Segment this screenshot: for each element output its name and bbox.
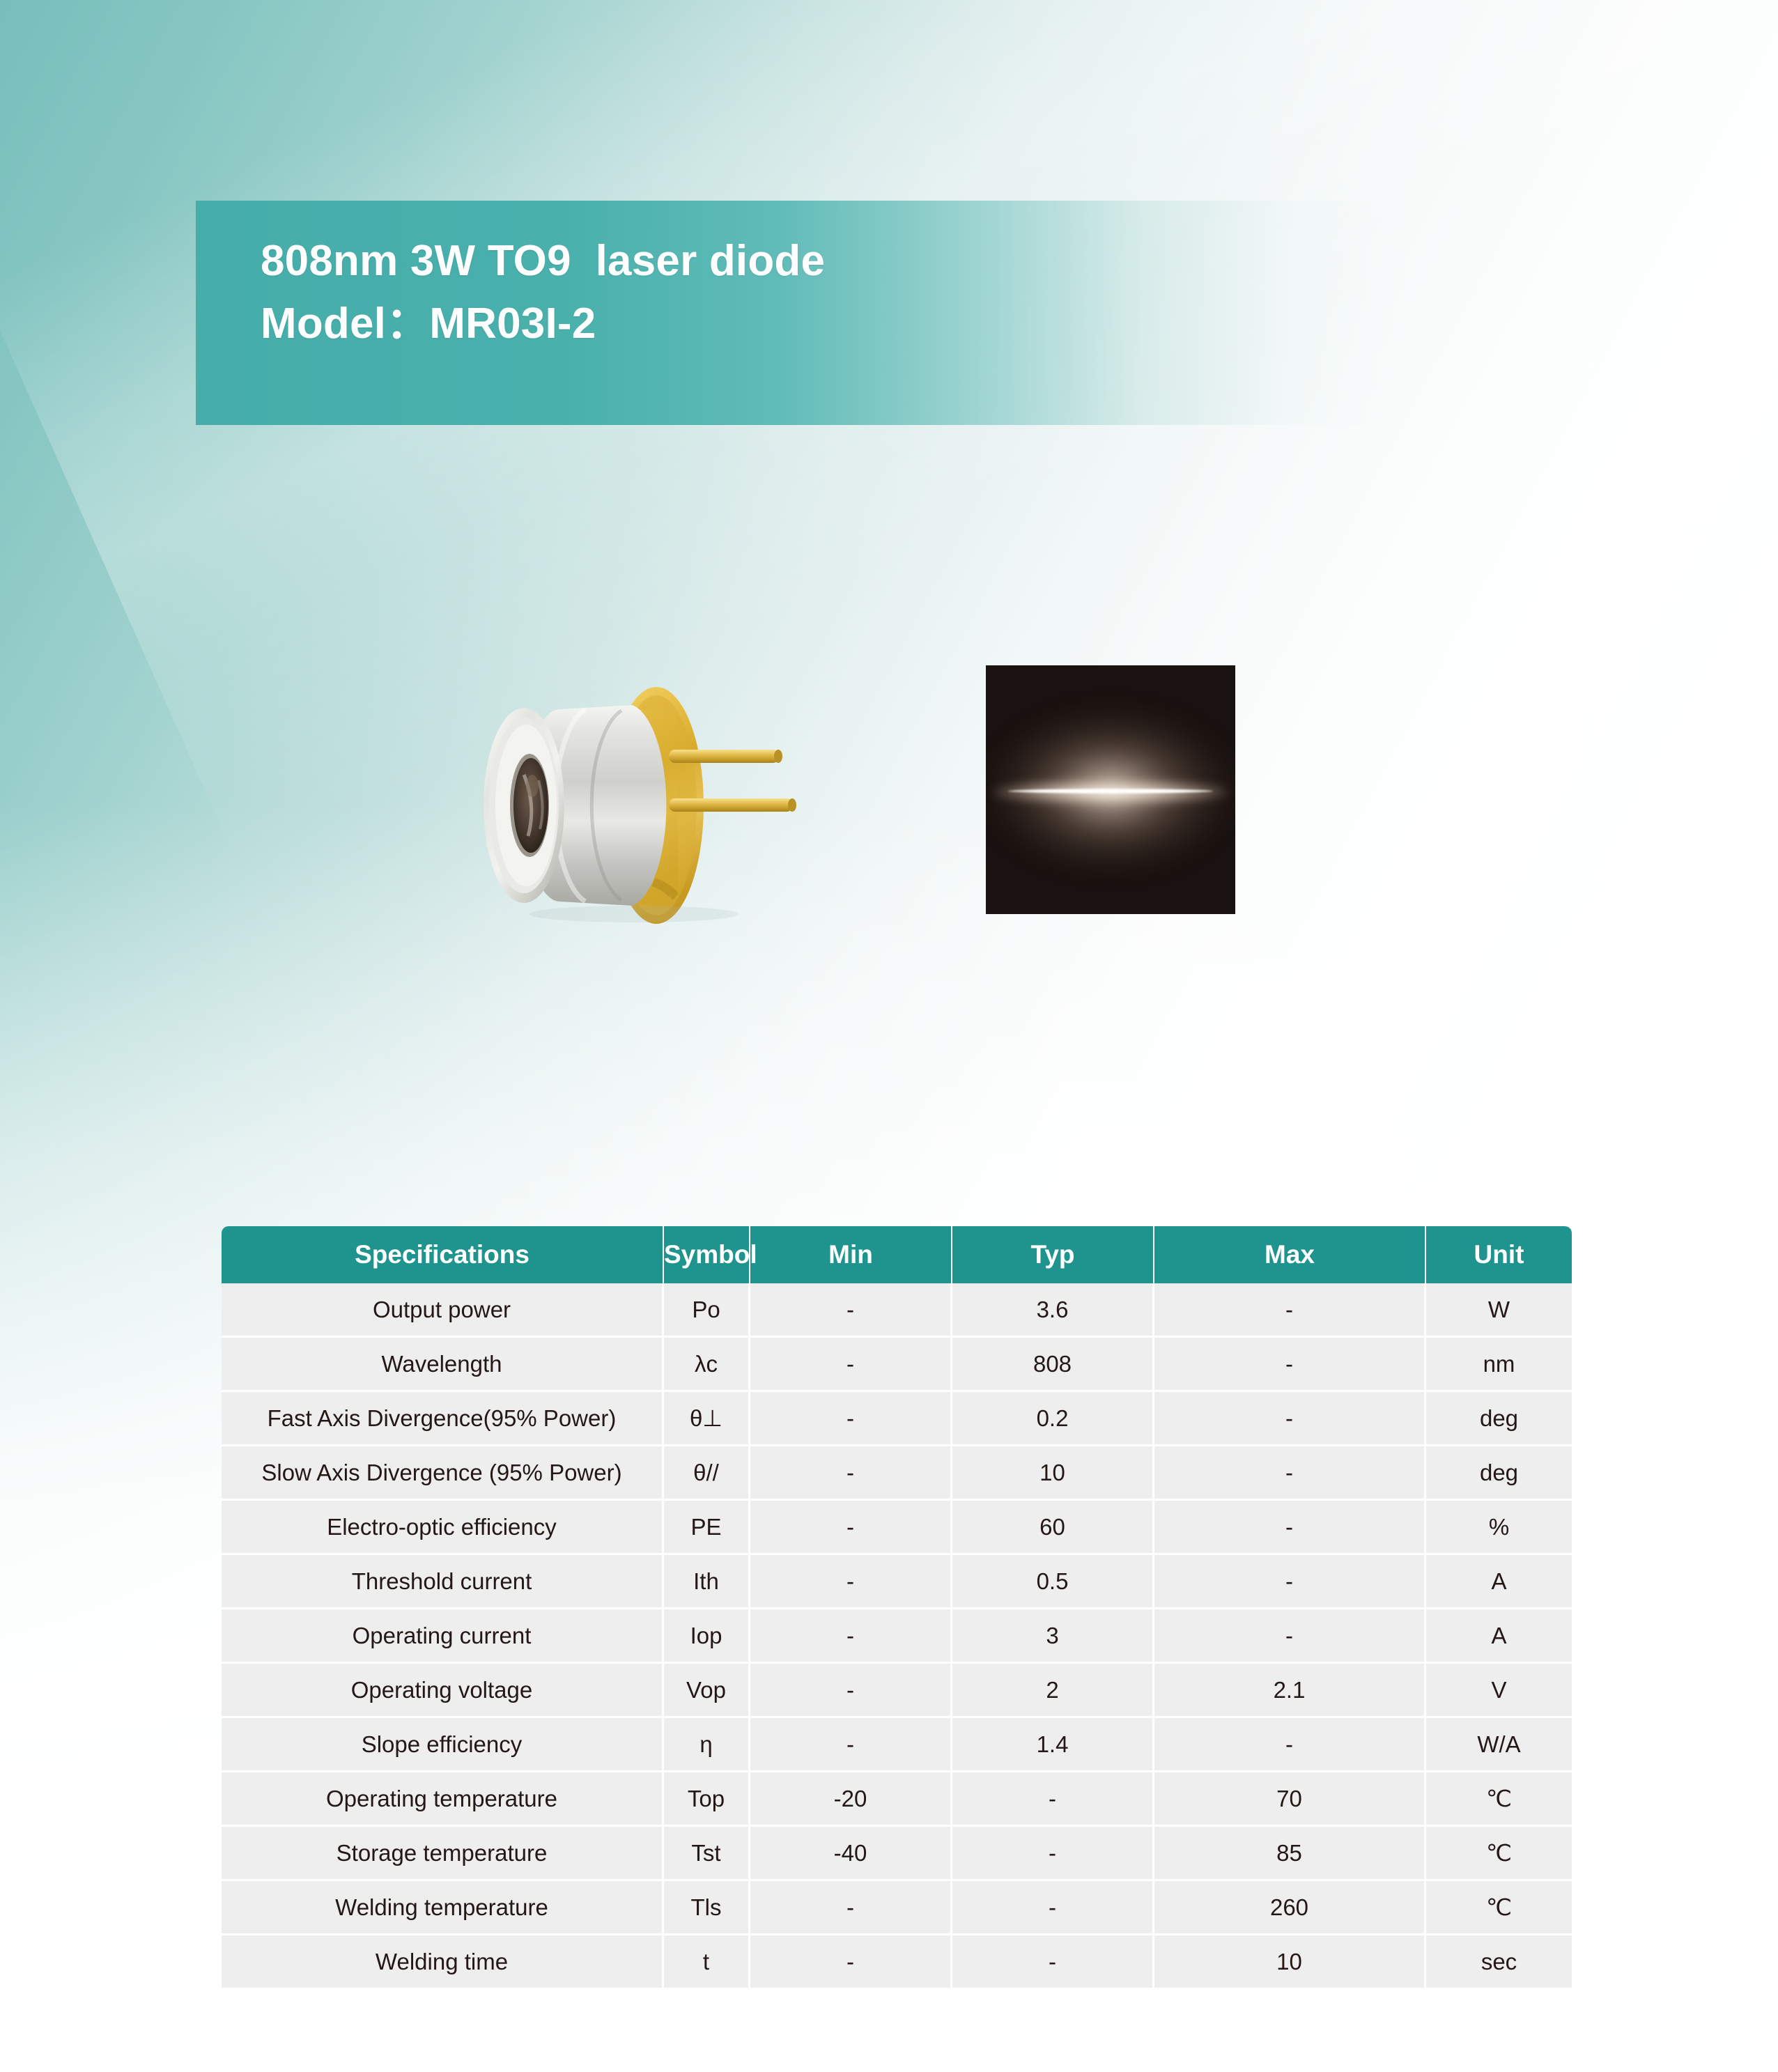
- cell-spec-name: Output power: [222, 1283, 664, 1338]
- to9-laser-diode-photo: [446, 669, 808, 941]
- col-header-specifications: Specifications: [222, 1226, 664, 1283]
- cell-spec-name: Operating voltage: [222, 1664, 664, 1718]
- cell-symbol: θ⊥: [664, 1392, 750, 1446]
- cell-typ: 0.5: [952, 1555, 1154, 1609]
- cell-min: -: [750, 1935, 952, 1988]
- cell-symbol: λc: [664, 1338, 750, 1392]
- cell-spec-name: Storage temperature: [222, 1827, 664, 1881]
- col-header-typ: Typ: [952, 1226, 1154, 1283]
- cell-max: 10: [1154, 1935, 1426, 1988]
- cell-typ: 10: [952, 1446, 1154, 1501]
- cell-symbol: PE: [664, 1501, 750, 1555]
- cell-unit: %: [1426, 1501, 1572, 1555]
- cell-min: -: [750, 1664, 952, 1718]
- table-row: Operating voltage Vop - 2 2.1 V: [222, 1664, 1572, 1718]
- cell-max: 2.1: [1154, 1664, 1426, 1718]
- cell-spec-name: Welding temperature: [222, 1881, 664, 1935]
- page-title-line-2: Model：MR03I-2: [261, 293, 1375, 355]
- cell-unit: ℃: [1426, 1827, 1572, 1881]
- cell-typ: -: [952, 1827, 1154, 1881]
- table-row: Welding temperature Tls - - 260 ℃: [222, 1881, 1572, 1935]
- cell-min: -: [750, 1392, 952, 1446]
- cell-symbol: t: [664, 1935, 750, 1988]
- cell-min: -40: [750, 1827, 952, 1881]
- table-row: Operating current Iop - 3 - A: [222, 1609, 1572, 1664]
- cell-spec-name: Wavelength: [222, 1338, 664, 1392]
- cell-unit: deg: [1426, 1446, 1572, 1501]
- cell-symbol: Iop: [664, 1609, 750, 1664]
- cell-typ: 3: [952, 1609, 1154, 1664]
- cell-typ: 60: [952, 1501, 1154, 1555]
- cell-typ: 3.6: [952, 1283, 1154, 1338]
- cell-typ: -: [952, 1881, 1154, 1935]
- table-row: Fast Axis Divergence(95% Power) θ⊥ - 0.2…: [222, 1392, 1572, 1446]
- cell-max: -: [1154, 1555, 1426, 1609]
- cell-unit: V: [1426, 1664, 1572, 1718]
- cell-typ: 808: [952, 1338, 1154, 1392]
- cell-max: -: [1154, 1501, 1426, 1555]
- page-title-line-1: 808nm 3W TO9 laser diode: [261, 230, 1375, 293]
- datasheet-page: 808nm 3W TO9 laser diode Model：MR03I-2: [0, 0, 1778, 2072]
- cell-typ: -: [952, 1935, 1154, 1988]
- cell-min: -: [750, 1501, 952, 1555]
- specifications-table-container: Specifications Symbol Min Typ Max Unit O…: [222, 1226, 1572, 1988]
- cell-min: -20: [750, 1772, 952, 1827]
- cell-symbol: Tst: [664, 1827, 750, 1881]
- cell-min: -: [750, 1881, 952, 1935]
- cell-min: -: [750, 1555, 952, 1609]
- table-row: Slow Axis Divergence (95% Power) θ// - 1…: [222, 1446, 1572, 1501]
- cell-min: -: [750, 1718, 952, 1772]
- col-header-min: Min: [750, 1226, 952, 1283]
- cell-typ: -: [952, 1772, 1154, 1827]
- cell-unit: ℃: [1426, 1772, 1572, 1827]
- cell-spec-name: Threshold current: [222, 1555, 664, 1609]
- cell-min: -: [750, 1446, 952, 1501]
- cell-symbol: Top: [664, 1772, 750, 1827]
- cell-max: 70: [1154, 1772, 1426, 1827]
- cell-unit: A: [1426, 1555, 1572, 1609]
- cell-unit: W: [1426, 1283, 1572, 1338]
- cell-max: -: [1154, 1392, 1426, 1446]
- col-header-symbol: Symbol: [664, 1226, 750, 1283]
- cell-symbol: Po: [664, 1283, 750, 1338]
- cell-symbol: Tls: [664, 1881, 750, 1935]
- cell-unit: deg: [1426, 1392, 1572, 1446]
- cell-spec-name: Electro-optic efficiency: [222, 1501, 664, 1555]
- cell-unit: ℃: [1426, 1881, 1572, 1935]
- table-header-row: Specifications Symbol Min Typ Max Unit: [222, 1226, 1572, 1283]
- cell-max: 85: [1154, 1827, 1426, 1881]
- cell-typ: 0.2: [952, 1392, 1154, 1446]
- cell-unit: A: [1426, 1609, 1572, 1664]
- specifications-table: Specifications Symbol Min Typ Max Unit O…: [222, 1226, 1572, 1988]
- beam-core-line: [1008, 789, 1213, 794]
- table-row: Storage temperature Tst -40 - 85 ℃: [222, 1827, 1572, 1881]
- table-row: Threshold current Ith - 0.5 - A: [222, 1555, 1572, 1609]
- cell-min: -: [750, 1338, 952, 1392]
- cell-typ: 2: [952, 1664, 1154, 1718]
- cell-max: -: [1154, 1718, 1426, 1772]
- cell-unit: nm: [1426, 1338, 1572, 1392]
- laser-beam-profile-image: [986, 665, 1235, 914]
- table-row: Operating temperature Top -20 - 70 ℃: [222, 1772, 1572, 1827]
- table-row: Welding time t - - 10 sec: [222, 1935, 1572, 1988]
- cell-spec-name: Operating current: [222, 1609, 664, 1664]
- cell-spec-name: Slow Axis Divergence (95% Power): [222, 1446, 664, 1501]
- cell-spec-name: Operating temperature: [222, 1772, 664, 1827]
- table-body: Output power Po - 3.6 - W Wavelength λc …: [222, 1283, 1572, 1988]
- table-row: Slope efficiency η - 1.4 - W/A: [222, 1718, 1572, 1772]
- table-row: Electro-optic efficiency PE - 60 - %: [222, 1501, 1572, 1555]
- header-title-block: 808nm 3W TO9 laser diode Model：MR03I-2: [261, 230, 1375, 355]
- cell-unit: W/A: [1426, 1718, 1572, 1772]
- cell-symbol: Ith: [664, 1555, 750, 1609]
- col-header-unit: Unit: [1426, 1226, 1572, 1283]
- cell-max: -: [1154, 1338, 1426, 1392]
- cell-symbol: η: [664, 1718, 750, 1772]
- cell-unit: sec: [1426, 1935, 1572, 1988]
- cell-max: -: [1154, 1283, 1426, 1338]
- cell-spec-name: Fast Axis Divergence(95% Power): [222, 1392, 664, 1446]
- cell-min: -: [750, 1283, 952, 1338]
- cell-max: -: [1154, 1609, 1426, 1664]
- cell-spec-name: Welding time: [222, 1935, 664, 1988]
- cell-symbol: θ//: [664, 1446, 750, 1501]
- table-row: Wavelength λc - 808 - nm: [222, 1338, 1572, 1392]
- table-row: Output power Po - 3.6 - W: [222, 1283, 1572, 1338]
- col-header-max: Max: [1154, 1226, 1426, 1283]
- cell-min: -: [750, 1609, 952, 1664]
- cell-symbol: Vop: [664, 1664, 750, 1718]
- cell-max: -: [1154, 1446, 1426, 1501]
- cell-spec-name: Slope efficiency: [222, 1718, 664, 1772]
- cell-max: 260: [1154, 1881, 1426, 1935]
- cell-typ: 1.4: [952, 1718, 1154, 1772]
